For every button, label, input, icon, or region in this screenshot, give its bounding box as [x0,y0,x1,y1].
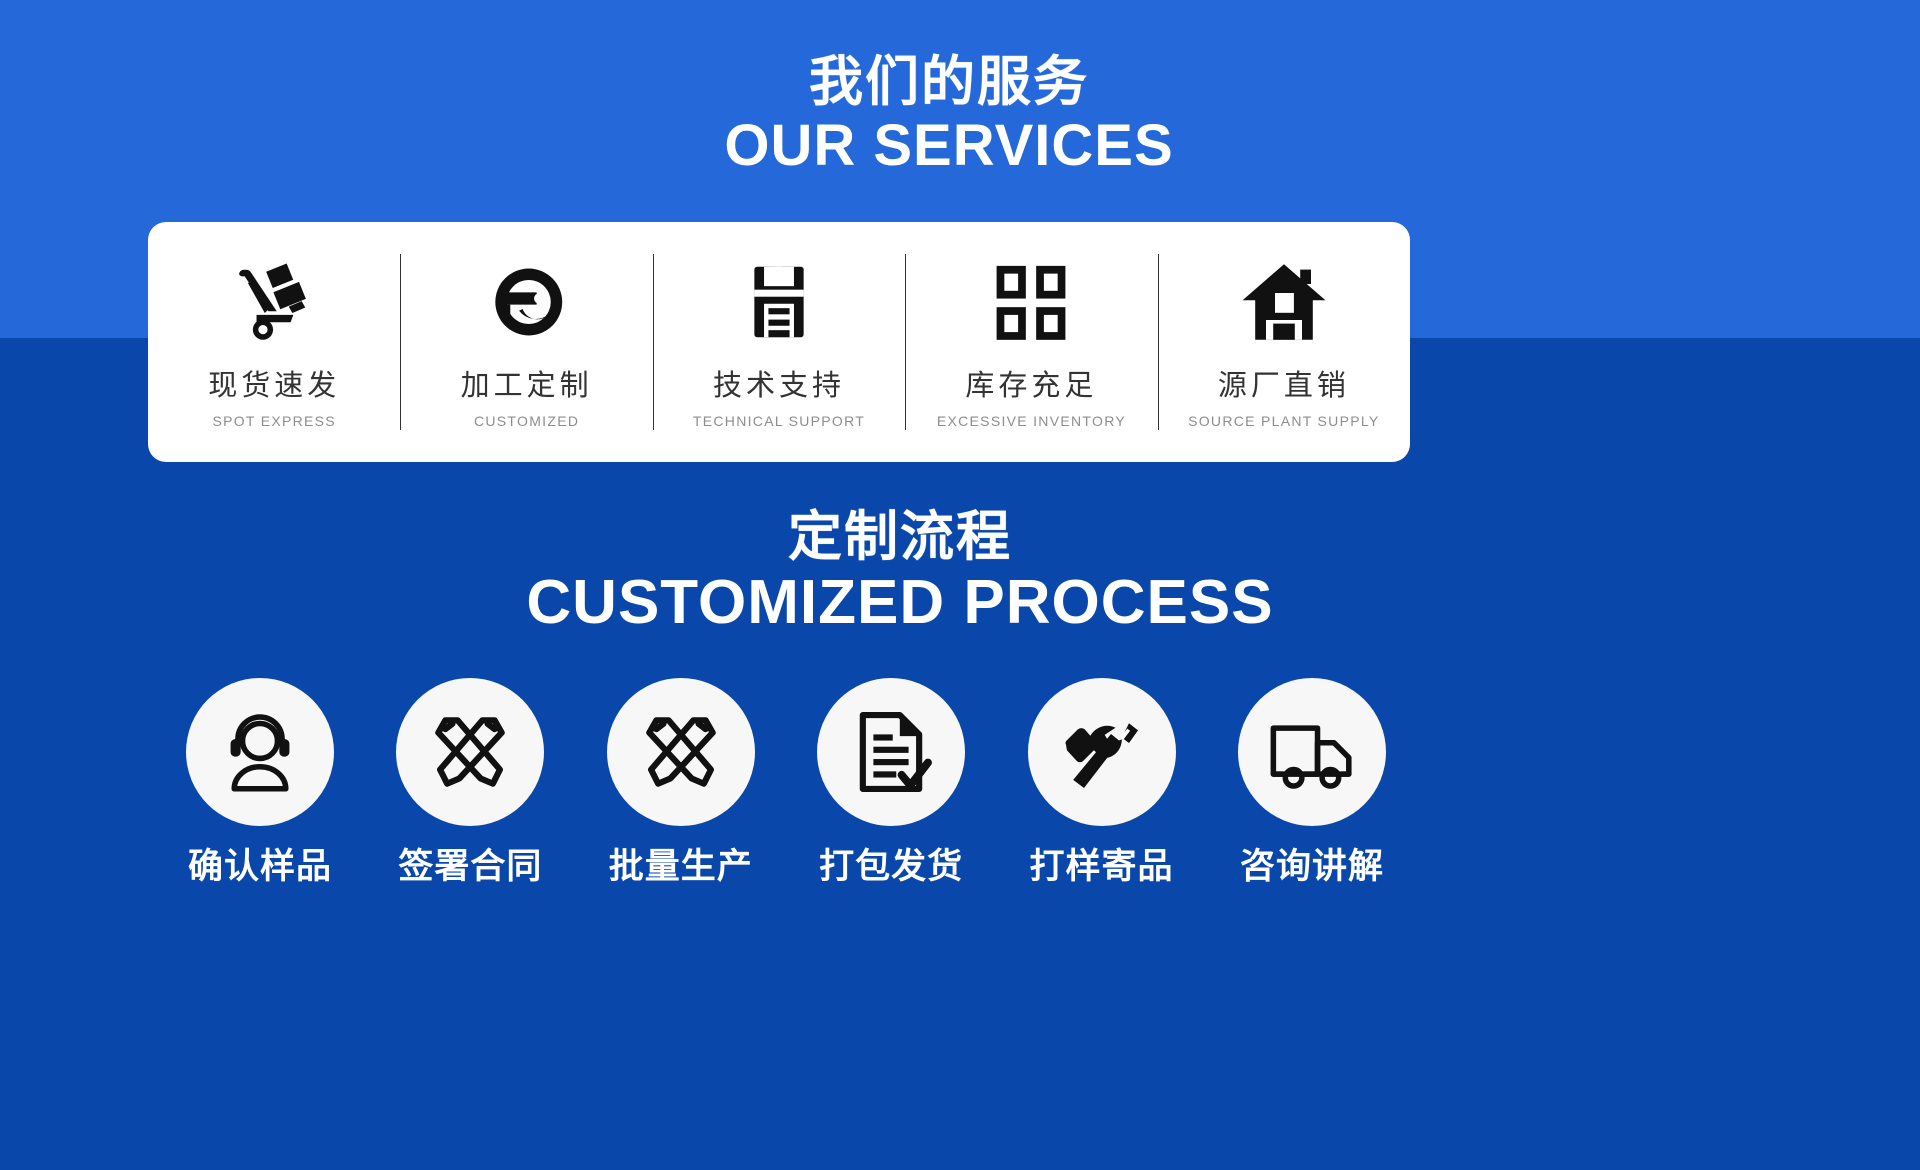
process-label: 打样寄品 [1028,838,1176,889]
process-title-en: CUSTOMIZED PROCESS [0,572,1920,634]
service-label-en: EXCESSIVE INVENTORY [937,413,1126,429]
crossed-pens-icon [426,708,514,796]
headset-agent-icon [214,706,306,798]
service-label-cn: 技术支持 [713,362,845,404]
process-step-mass-production[interactable] [607,678,755,826]
process-label: 批量生产 [607,838,755,889]
service-label-en: TECHNICAL SUPPORT [693,413,865,429]
process-label: 签署合同 [396,838,544,889]
crossed-pens-icon [637,708,725,796]
service-item-customized[interactable]: 加工定制 CUSTOMIZED [400,222,652,462]
process-step-confirm-sample[interactable] [186,678,334,826]
services-title-en: OUR SERVICES [0,117,1920,175]
service-item-inventory[interactable]: 库存充足 EXCESSIVE INVENTORY [905,222,1157,462]
service-item-source-plant[interactable]: 源厂直销 SOURCE PLANT SUPPLY [1158,222,1410,462]
page-stage: 我们的服务 OUR SERVICES [0,0,1920,1170]
process-labels-row: 确认样品 签署合同 批量生产 打包发货 打样寄品 咨询讲解 [186,838,1386,889]
services-title-cn: 我们的服务 [0,55,1920,109]
service-label-en: CUSTOMIZED [474,413,579,429]
service-label-cn: 源厂直销 [1218,362,1350,404]
process-steps-row [186,672,1386,832]
service-item-technical-support[interactable]: 技术支持 TECHNICAL SUPPORT [653,222,905,462]
services-card: 现货速发 SPOT EXPRESS 加工定制 CUSTOMIZED [148,222,1410,462]
services-section-title: 我们的服务 OUR SERVICES [0,55,1920,175]
service-label-en: SOURCE PLANT SUPPLY [1188,413,1379,429]
service-label-cn: 库存充足 [965,362,1097,404]
hand-truck-icon [228,256,320,348]
service-label-en: SPOT EXPRESS [212,413,336,429]
process-step-pack-ship[interactable] [817,678,965,826]
process-label: 确认样品 [186,838,334,889]
process-label: 打包发货 [817,838,965,889]
key-circle-icon [483,256,571,348]
service-label-cn: 现货速发 [208,362,340,404]
delivery-truck-icon [1266,706,1358,798]
process-section-title: 定制流程 CUSTOMIZED PROCESS [0,510,1920,634]
process-title-cn: 定制流程 [0,510,1920,564]
hammer-screwdriver-icon [1057,707,1147,797]
process-label: 咨询讲解 [1238,838,1386,889]
factory-house-icon [1239,256,1329,348]
four-squares-grid-icon [988,256,1074,348]
service-label-cn: 加工定制 [461,362,593,404]
service-item-spot-express[interactable]: 现货速发 SPOT EXPRESS [148,222,400,462]
process-step-sign-contract[interactable] [396,678,544,826]
document-check-icon [847,708,935,796]
process-step-consultation[interactable] [1238,678,1386,826]
floppy-disk-icon [735,256,823,348]
process-step-sample-making[interactable] [1028,678,1176,826]
